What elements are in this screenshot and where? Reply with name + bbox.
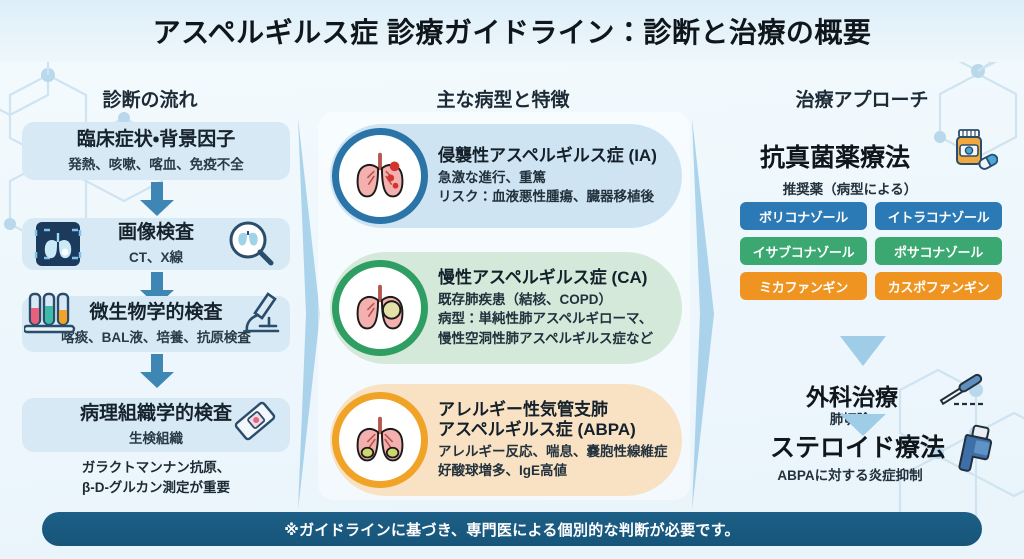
- disease-card-ia-text: 侵襲性アスペルギルス症 (IA) 急激な進行、重篤 リスク：血液悪性腫瘍、臓器移…: [428, 146, 663, 205]
- disease-title: 侵襲性アスペルギルス症 (IA): [438, 146, 657, 166]
- disease-title-line2: アスペルギルス症 (ABPA): [438, 420, 668, 440]
- drug-pill-micafungin[interactable]: ミカファンギン: [740, 272, 867, 300]
- flow-step-clinical-symptoms[interactable]: 臨床症状・背景因子 発熱、咳嗽、喀血、免疫不全: [22, 122, 290, 180]
- lungs-aspergilloma-icon: [332, 260, 428, 356]
- disease-line-1: 急激な進行、重篤: [438, 169, 657, 187]
- disease-card-ia[interactable]: 侵襲性アスペルギルス症 (IA) 急激な進行、重篤 リスク：血液悪性腫瘍、臓器移…: [330, 124, 682, 228]
- disease-card-ca[interactable]: 慢性アスペルギルス症 (CA) 既存肺疾患（結核、COPD） 病型：単純性肺アス…: [330, 252, 682, 364]
- column-heading-diagnosis: 診断の流れ: [0, 85, 300, 112]
- flow-arrow-down-3: [140, 354, 174, 388]
- column-heading-treatment: 治療アプローチ: [700, 85, 1024, 112]
- flow-step-title: 微生物学的検査: [89, 302, 222, 324]
- footer-text: ※ガイドラインに基づき、専門医による個別的な判断が必要です。: [284, 519, 740, 540]
- antifungal-therapy-title: 抗真菌薬療法: [760, 138, 910, 174]
- chevron-divider-right: [690, 118, 716, 510]
- page-header: アスペルギルス症 診療ガイドライン：診断と治療の概要: [0, 0, 1024, 62]
- disease-card-abpa-text: アレルギー性気管支肺 アスペルギルス症 (ABPA) アレルギー反応、喘息、嚢胞…: [428, 400, 674, 480]
- disease-line-2: 好酸球増多、IgE高値: [438, 462, 668, 480]
- lungs-invasive-icon: [332, 128, 428, 224]
- flow-arrow-down-1: [140, 182, 174, 216]
- drug-pill-itraconazole[interactable]: イトラコナゾール: [875, 202, 1002, 230]
- steroid-therapy-title: ステロイド療法: [770, 428, 945, 464]
- page-title: アスペルギルス症 診療ガイドライン：診断と治療の概要: [153, 11, 872, 51]
- infographic-root: アスペルギルス症 診療ガイドライン：診断と治療の概要 診断の流れ 主な病型と特徴…: [0, 0, 1024, 559]
- flow-step-sub: 喀痰、BAL液、培養、抗原検査: [61, 326, 251, 346]
- flow-step-sub: 発熱、咳嗽、喀血、免疫不全: [68, 153, 244, 173]
- test-tubes-icon: [24, 288, 76, 338]
- lungs-allergic-icon: [332, 392, 428, 488]
- disease-line-1: アレルギー反応、喘息、嚢胞性線維症: [438, 443, 668, 461]
- flow-step-sub: 生検組織: [129, 427, 183, 447]
- chest-xray-icon: [34, 220, 82, 268]
- flow-step-title: 病理組織学的検査: [80, 403, 232, 425]
- antifungal-subtitle: 推奨薬（病型による）: [700, 178, 1000, 198]
- disease-card-ca-text: 慢性アスペルギルス症 (CA) 既存肺疾患（結核、COPD） 病型：単純性肺アス…: [428, 268, 659, 347]
- disease-line-2: リスク：血液悪性腫瘍、臓器移植後: [438, 188, 657, 206]
- treatment-arrow-down-1: [840, 336, 886, 366]
- disease-line-1: 既存肺疾患（結核、COPD）: [438, 291, 653, 309]
- drug-pill-caspofungin[interactable]: カスポファンギン: [875, 272, 1002, 300]
- disease-line-3: 慢性空洞性肺アスペルギルス症など: [438, 330, 653, 348]
- microscope-icon: [238, 288, 286, 336]
- flow-step-sub: CT、X線: [129, 246, 183, 266]
- pill-bottle-icon: [950, 128, 998, 174]
- magnifier-lung-icon: [224, 218, 276, 270]
- flow-step-title: 画像検査: [118, 222, 194, 244]
- drug-list: ボリコナゾール イトラコナゾール イサブコナゾール ポサコナゾール ミカファンギ…: [740, 202, 1002, 300]
- footer-banner: ※ガイドラインに基づき、専門医による個別的な判断が必要です。: [42, 512, 982, 546]
- drug-pill-posaconazole[interactable]: ポサコナゾール: [875, 237, 1002, 265]
- surgery-title: 外科治療: [806, 378, 898, 412]
- diagnosis-note-line2: β-D-グルカン測定が重要: [22, 478, 290, 498]
- microscope-slide-icon: [228, 394, 282, 448]
- disease-line-2: 病型：単純性肺アスペルギローマ、: [438, 310, 653, 328]
- diagnosis-note: ガラクトマンナン抗原、 β-D-グルカン測定が重要: [22, 458, 290, 497]
- drug-pill-isavuconazole[interactable]: イサブコナゾール: [740, 237, 867, 265]
- disease-title-line1: アレルギー性気管支肺: [438, 400, 668, 420]
- drug-pill-voriconazole[interactable]: ボリコナゾール: [740, 202, 867, 230]
- scalpel-icon: [932, 366, 990, 412]
- flow-step-title: 臨床症状・背景因子: [77, 129, 235, 151]
- column-heading-types: 主な病型と特徴: [318, 85, 688, 112]
- inhaler-icon: [952, 424, 998, 478]
- disease-title: 慢性アスペルギルス症 (CA): [438, 268, 653, 288]
- diagnosis-note-line1: ガラクトマンナン抗原、: [22, 458, 290, 478]
- disease-card-abpa[interactable]: アレルギー性気管支肺 アスペルギルス症 (ABPA) アレルギー反応、喘息、嚢胞…: [330, 384, 682, 496]
